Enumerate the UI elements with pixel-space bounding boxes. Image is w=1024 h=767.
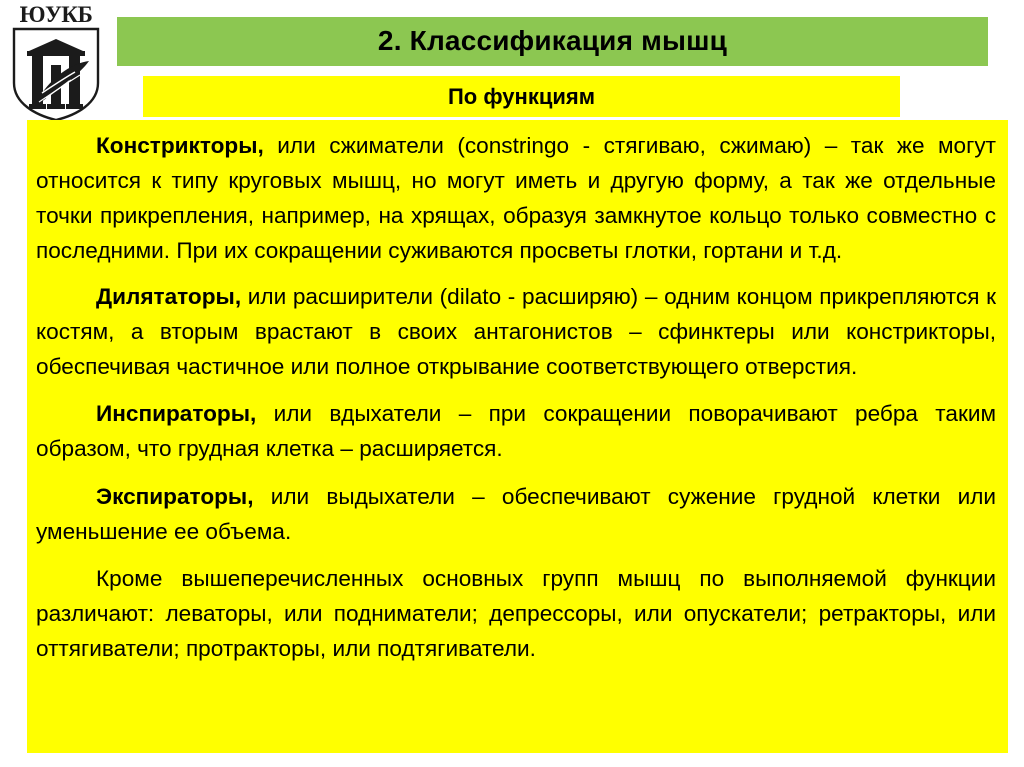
paragraph-other-groups: Кроме вышеперечисленных основных групп м… — [36, 561, 996, 666]
slide-title-bar: 2. Классификация мышц — [117, 17, 988, 66]
term-constrictors: Констрикторы, — [96, 133, 264, 158]
paragraph-other-groups-text: Кроме вышеперечисленных основных групп м… — [36, 566, 996, 661]
term-expirators: Экспираторы, — [96, 484, 254, 509]
shield-emblem-icon — [11, 27, 101, 122]
paragraph-dilators: Дилятаторы, или расширители (dilato - ра… — [36, 279, 996, 384]
term-inspirators: Инспираторы, — [96, 401, 256, 426]
page-subtitle: По функциям — [143, 76, 900, 117]
slide-root: ЮУКБ 2. Классификация мышц По — [0, 0, 1024, 767]
paragraph-constrictors: Констрикторы, или сжиматели (constringo … — [36, 128, 996, 268]
logo-abbreviation: ЮУКБ — [8, 2, 104, 27]
paragraph-expirators: Экспираторы, или выдыхатели – обеспечива… — [36, 479, 996, 549]
slide-subtitle-bar: По функциям — [143, 76, 900, 117]
content-panel: Констрикторы, или сжиматели (constringo … — [27, 120, 1008, 753]
term-dilators: Дилятаторы, — [96, 284, 241, 309]
paragraph-inspirators: Инспираторы, или вдыхатели – при сокраще… — [36, 396, 996, 466]
institution-logo: ЮУКБ — [8, 2, 104, 122]
page-title: 2. Классификация мышц — [117, 16, 988, 65]
